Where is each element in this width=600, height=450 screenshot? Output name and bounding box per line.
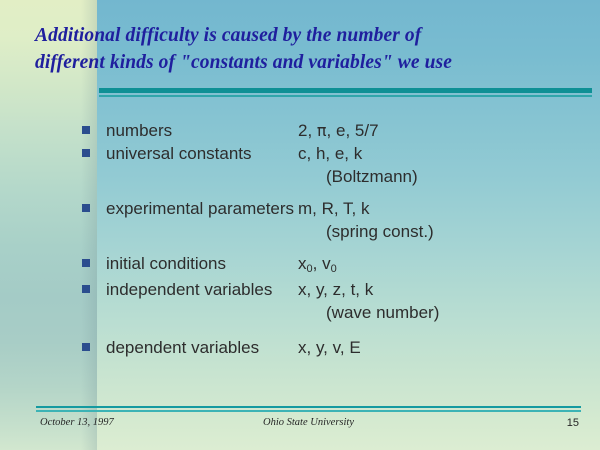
list-item: numbers 2, π, e, 5/7 — [82, 119, 592, 142]
value-continuation: (Boltzmann) — [298, 165, 592, 188]
value-label: x, y, z, t, k (wave number) — [298, 278, 592, 324]
spacer — [82, 188, 592, 197]
value-label: m, R, T, k (spring const.) — [298, 197, 592, 243]
square-bullet-icon — [82, 204, 90, 212]
bullet-cell — [82, 252, 106, 267]
square-bullet-icon — [82, 343, 90, 351]
title-divider-thin — [99, 95, 592, 97]
square-bullet-icon — [82, 149, 90, 157]
bullet-cell — [82, 142, 106, 157]
term-label: universal constants — [106, 142, 298, 165]
list-item: initial conditions x0, v0 — [82, 252, 592, 278]
value-label: c, h, e, k (Boltzmann) — [298, 142, 592, 188]
value-label: 2, π, e, 5/7 — [298, 119, 592, 142]
value-text: 2, π, e, 5/7 — [298, 121, 379, 140]
term-label: dependent variables — [106, 336, 298, 359]
slide-title: Additional difficulty is caused by the n… — [35, 22, 580, 76]
pi-symbol: π — [317, 121, 327, 140]
term-label: independent variables — [106, 278, 298, 301]
list-item: experimental parameters m, R, T, k (spri… — [82, 197, 592, 243]
list-item: dependent variables x, y, v, E — [82, 336, 592, 359]
definition-list: numbers 2, π, e, 5/7 universal constants… — [82, 119, 592, 359]
spacer — [82, 324, 592, 336]
slide-footer: October 13, 1997 Ohio State University 1… — [36, 416, 581, 434]
term-label: initial conditions — [106, 252, 298, 275]
subscript-zero: 0 — [331, 263, 337, 275]
value-text: x0, v0 — [298, 254, 337, 273]
spacer — [82, 243, 592, 252]
subscript-zero: 0 — [307, 263, 313, 275]
list-item: independent variables x, y, z, t, k (wav… — [82, 278, 592, 324]
value-text: x, y, z, t, k — [298, 280, 373, 299]
value-continuation: (spring const.) — [298, 220, 592, 243]
term-label: numbers — [106, 119, 298, 142]
bullet-cell — [82, 336, 106, 351]
presentation-slide: Additional difficulty is caused by the n… — [0, 0, 600, 450]
title-divider-thick — [99, 88, 592, 93]
value-text: c, h, e, k — [298, 144, 362, 163]
value-text: x, y, v, E — [298, 338, 361, 357]
footer-divider-top — [36, 406, 581, 408]
term-label: experimental parameters — [106, 197, 298, 220]
square-bullet-icon — [82, 126, 90, 134]
value-label: x, y, v, E — [298, 336, 592, 359]
square-bullet-icon — [82, 285, 90, 293]
footer-organization: Ohio State University — [36, 417, 581, 428]
bullet-cell — [82, 197, 106, 212]
list-item: universal constants c, h, e, k (Boltzman… — [82, 142, 592, 188]
bullet-cell — [82, 119, 106, 134]
footer-page-number: 15 — [567, 417, 579, 429]
square-bullet-icon — [82, 259, 90, 267]
value-continuation: (wave number) — [298, 301, 592, 324]
value-label: x0, v0 — [298, 252, 592, 278]
footer-divider-bottom — [36, 410, 581, 412]
bullet-cell — [82, 278, 106, 293]
value-text: m, R, T, k — [298, 199, 369, 218]
